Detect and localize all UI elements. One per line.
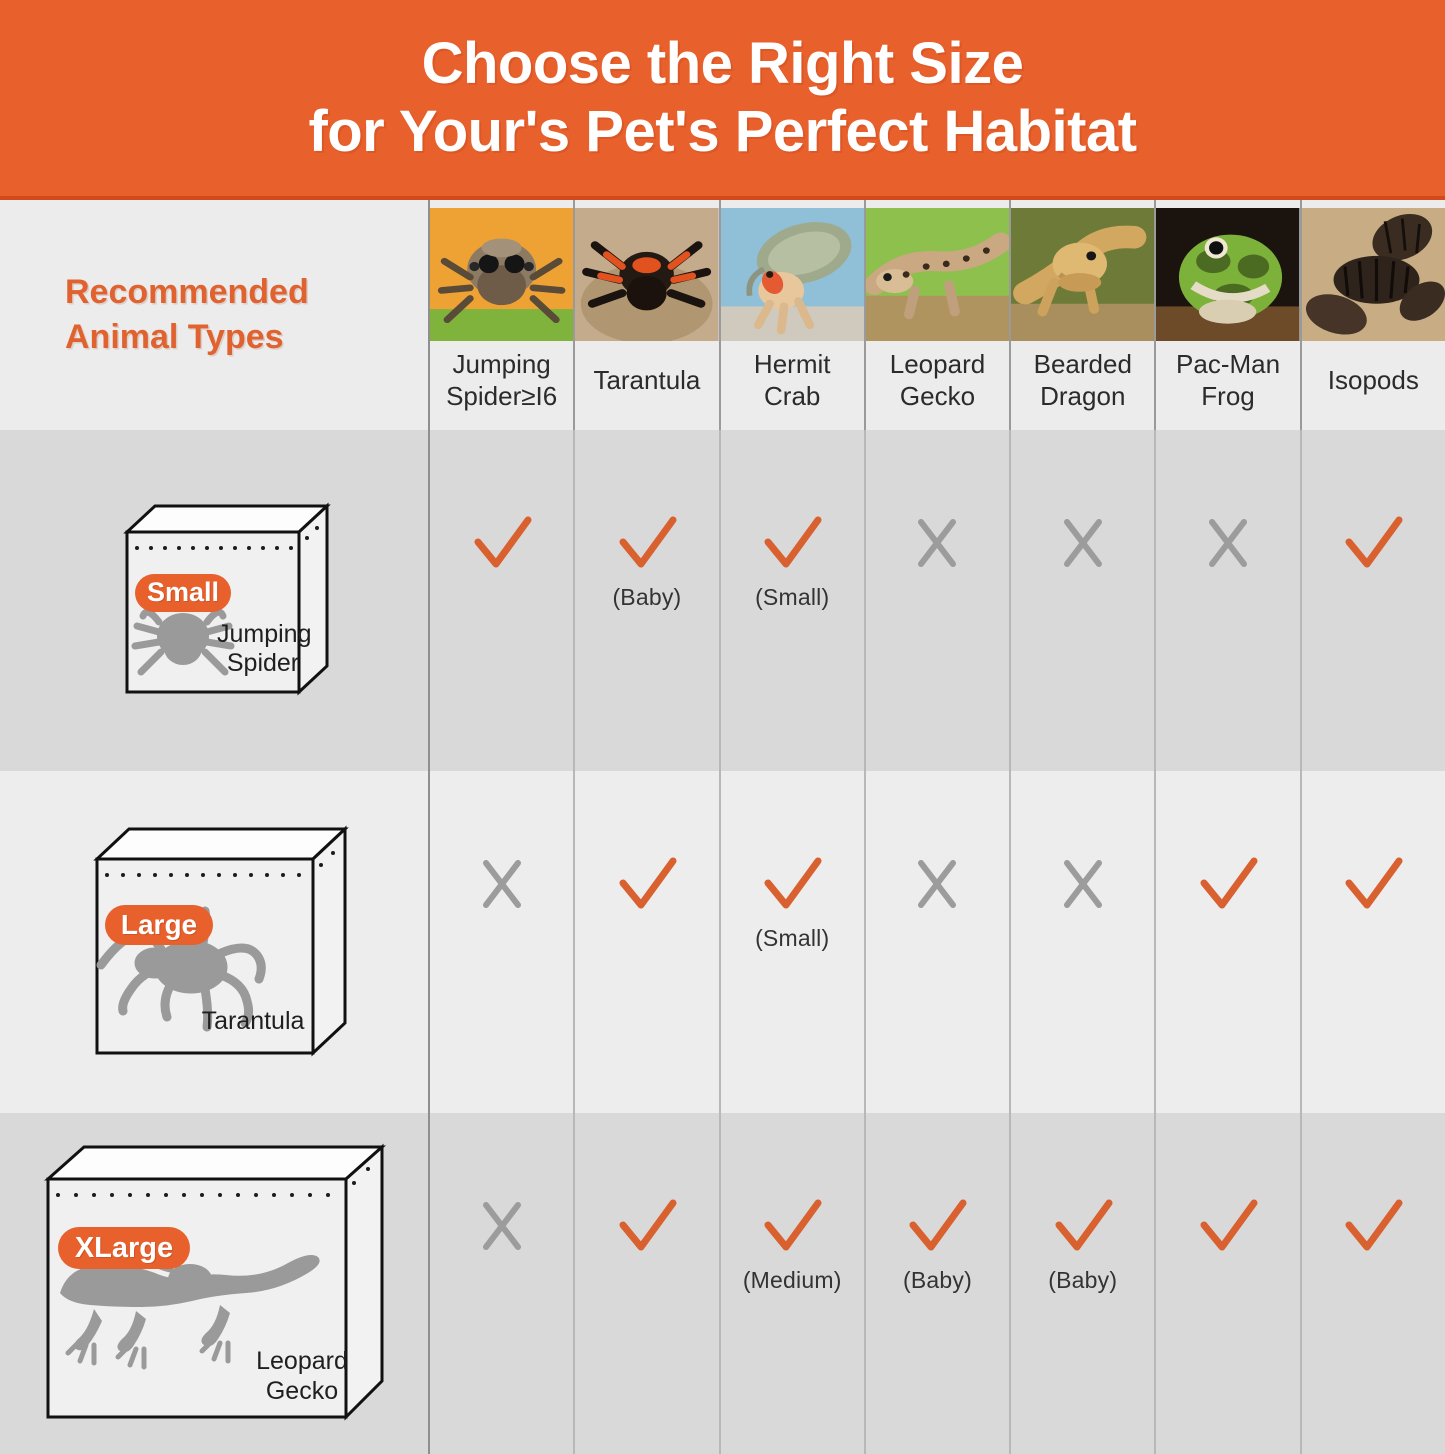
cross-icon (901, 853, 973, 915)
cross-icon (1047, 512, 1119, 574)
check-icon (756, 512, 828, 574)
size-badge-small: Small (135, 574, 231, 612)
cell-note: (Small) (755, 925, 829, 952)
cell-note: (Baby) (1048, 1267, 1117, 1294)
table-row: Large Tarantula (Small) (0, 771, 1445, 1112)
column-label-leopard-gecko: Leopard Gecko (886, 341, 989, 430)
table-row: Small Jumping Spider (Baby) (Small) (0, 430, 1445, 771)
cell-xlarge-pac-man-frog (1156, 1113, 1301, 1454)
cross-icon (466, 1195, 538, 1257)
box-illustration-xlarge: XLarge Leopard Gecko (24, 1133, 404, 1433)
check-icon (756, 1195, 828, 1257)
cross-icon (1047, 853, 1119, 915)
check-icon (901, 1195, 973, 1257)
check-icon (1047, 1195, 1119, 1257)
corner-header-title: Recommended Animal Types (65, 270, 309, 360)
pac-man-frog-photo (1156, 208, 1299, 341)
cross-icon (1192, 512, 1264, 574)
cell-xlarge-tarantula (575, 1113, 720, 1454)
cell-note: (Small) (755, 584, 829, 611)
cell-note: (Medium) (743, 1267, 842, 1294)
cell-small-leopard-gecko (866, 430, 1011, 771)
corner-header-cell: Recommended Animal Types (0, 200, 430, 430)
cell-large-tarantula (575, 771, 720, 1112)
row-label-cell-large: Large Tarantula (0, 771, 430, 1112)
column-header-leopard-gecko[interactable]: Leopard Gecko (866, 200, 1011, 430)
banner-title-line-1: Choose the Right Size (422, 30, 1024, 98)
cell-large-jumping-spider (430, 771, 575, 1112)
isopods-photo (1302, 208, 1445, 341)
box-caption-large: Tarantula (197, 1007, 309, 1037)
cell-small-jumping-spider (430, 430, 575, 771)
bearded-dragon-photo (1011, 208, 1154, 341)
box-illustration-large: Large Tarantula (69, 817, 359, 1067)
check-icon (1192, 1195, 1264, 1257)
row-label-cell-small: Small Jumping Spider (0, 430, 430, 771)
cell-note: (Baby) (903, 1267, 972, 1294)
check-icon (756, 853, 828, 915)
check-icon (1337, 512, 1409, 574)
check-icon (611, 512, 683, 574)
cross-icon (466, 853, 538, 915)
cell-small-pac-man-frog (1156, 430, 1301, 771)
cell-large-pac-man-frog (1156, 771, 1301, 1112)
column-label-bearded-dragon: Bearded Dragon (1030, 341, 1136, 430)
column-header-isopods[interactable]: Isopods (1302, 200, 1445, 430)
cell-large-isopods (1302, 771, 1445, 1112)
column-header-jumping-spider[interactable]: Jumping Spider≥I6 (430, 200, 575, 430)
cross-icon (901, 512, 973, 574)
column-header-bearded-dragon[interactable]: Bearded Dragon (1011, 200, 1156, 430)
corner-header-line-1: Recommended (65, 270, 309, 315)
check-icon (611, 1195, 683, 1257)
check-icon (1337, 853, 1409, 915)
cell-xlarge-leopard-gecko: (Baby) (866, 1113, 1011, 1454)
column-label-tarantula: Tarantula (589, 341, 704, 430)
row-label-cell-xlarge: XLarge Leopard Gecko (0, 1113, 430, 1454)
check-icon (466, 512, 538, 574)
banner-title-line-2: for Your's Pet's Perfect Habitat (308, 98, 1136, 166)
box-caption-xlarge: Leopard Gecko (248, 1347, 356, 1406)
cell-small-hermit-crab: (Small) (721, 430, 866, 771)
cell-small-bearded-dragon (1011, 430, 1156, 771)
page-banner: Choose the Right Size for Your's Pet's P… (0, 0, 1445, 200)
cell-note: (Baby) (612, 584, 681, 611)
size-badge-large: Large (105, 905, 213, 945)
column-label-pac-man-frog: Pac-Man Frog (1172, 341, 1284, 430)
size-badge-xlarge: XLarge (58, 1227, 190, 1269)
size-comparison-table: Recommended Animal Types (0, 200, 1445, 1454)
cell-xlarge-isopods (1302, 1113, 1445, 1454)
corner-header-line-2: Animal Types (65, 315, 309, 360)
check-icon (1337, 1195, 1409, 1257)
hermit-crab-photo (721, 208, 864, 341)
column-label-jumping-spider: Jumping Spider≥I6 (442, 341, 561, 430)
cell-large-hermit-crab: (Small) (721, 771, 866, 1112)
table-row: XLarge Leopard Gecko (Medium) (Baby) (Ba… (0, 1113, 1445, 1454)
cell-small-isopods (1302, 430, 1445, 771)
column-header-tarantula[interactable]: Tarantula (575, 200, 720, 430)
box-caption-small: Jumping Spider (217, 620, 309, 679)
leopard-gecko-photo (866, 208, 1009, 341)
column-label-hermit-crab: Hermit Crab (750, 341, 835, 430)
table-header-row: Recommended Animal Types (0, 200, 1445, 430)
cell-large-leopard-gecko (866, 771, 1011, 1112)
check-icon (1192, 853, 1264, 915)
cell-xlarge-bearded-dragon: (Baby) (1011, 1113, 1156, 1454)
column-header-hermit-crab[interactable]: Hermit Crab (721, 200, 866, 430)
cell-small-tarantula: (Baby) (575, 430, 720, 771)
cell-xlarge-hermit-crab: (Medium) (721, 1113, 866, 1454)
box-illustration-small: Small Jumping Spider (91, 496, 337, 706)
column-header-pac-man-frog[interactable]: Pac-Man Frog (1156, 200, 1301, 430)
tarantula-photo (575, 208, 718, 341)
jumping-spider-photo (430, 208, 573, 341)
cell-xlarge-jumping-spider (430, 1113, 575, 1454)
cell-large-bearded-dragon (1011, 771, 1156, 1112)
check-icon (611, 853, 683, 915)
column-label-isopods: Isopods (1324, 341, 1423, 430)
